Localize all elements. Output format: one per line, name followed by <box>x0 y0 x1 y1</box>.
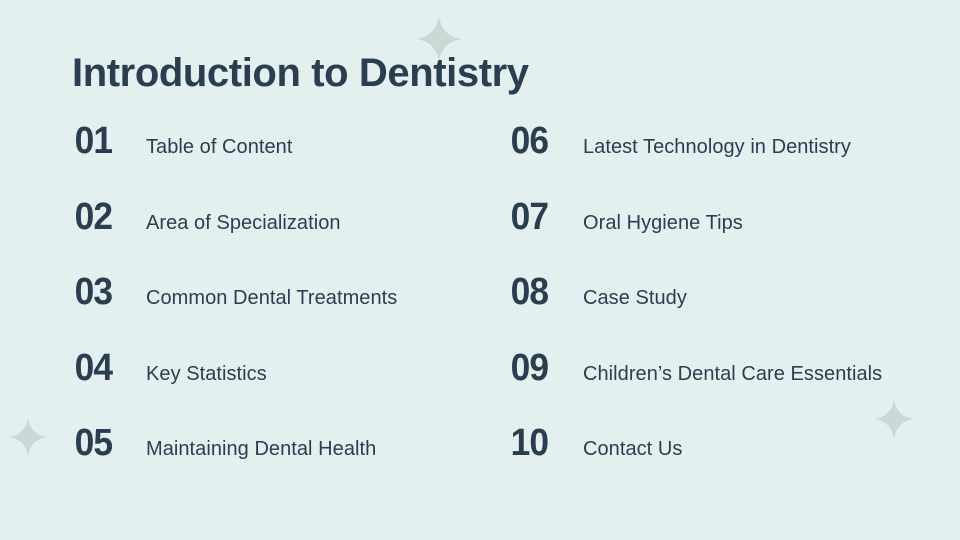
list-item[interactable]: 04 Key Statistics <box>72 349 492 425</box>
list-item-number: 08 <box>511 273 581 311</box>
list-item-number: 06 <box>511 122 581 160</box>
toc-column-left: 01 Table of Content 02 Area of Specializ… <box>72 122 492 500</box>
list-item-number: 07 <box>511 198 581 236</box>
list-item-number: 10 <box>511 424 581 462</box>
sparkle-bottom-left <box>8 417 48 457</box>
list-item-label: Common Dental Treatments <box>146 286 492 310</box>
list-item[interactable]: 08 Case Study <box>508 273 938 349</box>
list-item-label: Latest Technology in Dentistry <box>583 135 938 159</box>
list-item-label: Table of Content <box>146 135 492 159</box>
slide-canvas: Introduction to Dentistry 01 Table of Co… <box>0 0 960 540</box>
list-item[interactable]: 05 Maintaining Dental Health <box>72 424 492 500</box>
page-title: Introduction to Dentistry <box>72 50 529 96</box>
list-item-label: Children’s Dental Care Essentials <box>583 362 938 386</box>
list-item[interactable]: 10 Contact Us <box>508 424 938 500</box>
list-item[interactable]: 09 Children’s Dental Care Essentials <box>508 349 938 425</box>
list-item-number: 03 <box>75 273 144 311</box>
list-item-label: Contact Us <box>583 437 938 461</box>
list-item-label: Area of Specialization <box>146 211 492 235</box>
list-item[interactable]: 06 Latest Technology in Dentistry <box>508 122 938 198</box>
list-item-number: 01 <box>75 122 144 160</box>
list-item-label: Maintaining Dental Health <box>146 437 492 461</box>
list-item-label: Case Study <box>583 286 938 310</box>
list-item-number: 05 <box>75 424 144 462</box>
list-item[interactable]: 07 Oral Hygiene Tips <box>508 198 938 274</box>
list-item-label: Oral Hygiene Tips <box>583 211 938 235</box>
list-item-number: 04 <box>75 349 144 387</box>
list-item[interactable]: 01 Table of Content <box>72 122 492 198</box>
list-item-number: 09 <box>511 349 581 387</box>
list-item[interactable]: 02 Area of Specialization <box>72 198 492 274</box>
list-item-label: Key Statistics <box>146 362 492 386</box>
toc-column-right: 06 Latest Technology in Dentistry 07 Ora… <box>508 122 938 500</box>
list-item[interactable]: 03 Common Dental Treatments <box>72 273 492 349</box>
list-item-number: 02 <box>75 198 144 236</box>
